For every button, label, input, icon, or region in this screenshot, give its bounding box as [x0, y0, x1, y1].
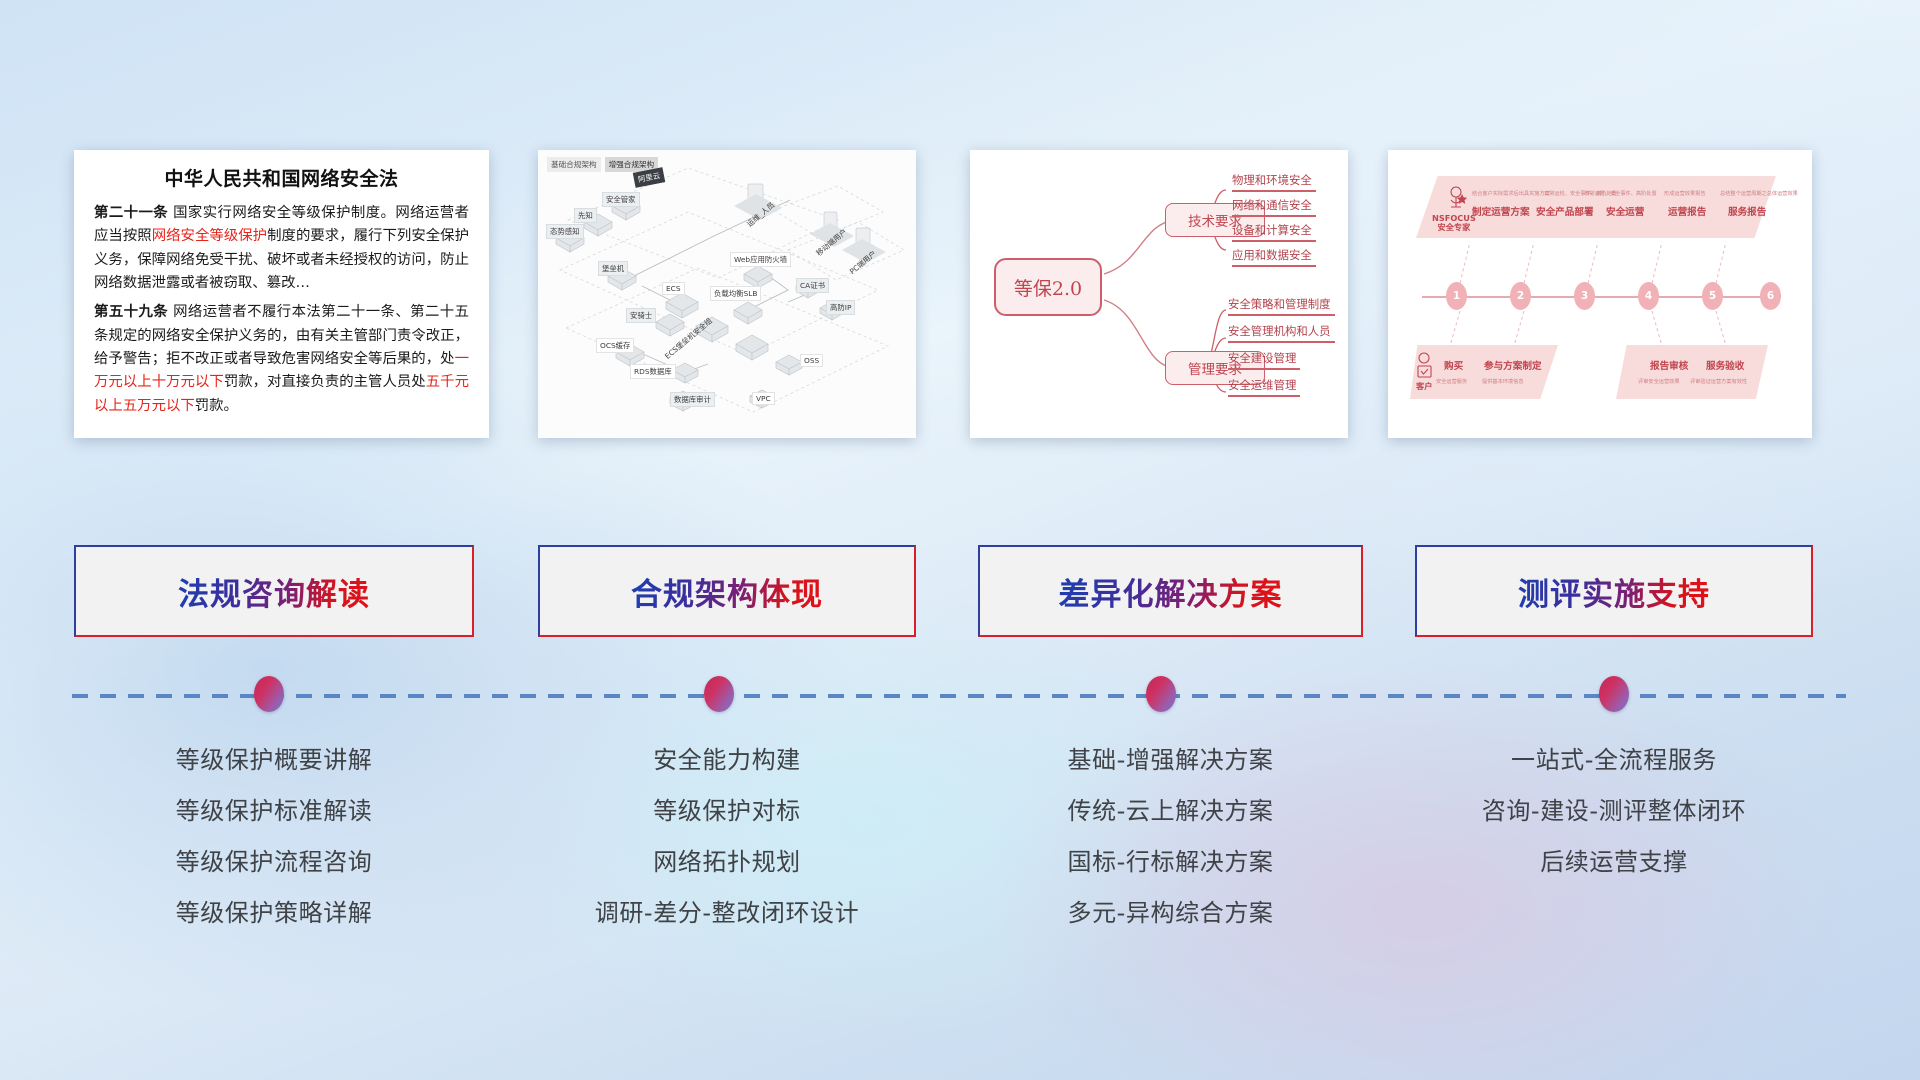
list-item: 传统-云上解决方案: [978, 786, 1363, 837]
process-step-sub: 日常运检、安全事件、高阶处置: [1584, 190, 1657, 197]
mindmap-leaf: 应用和数据安全: [1232, 247, 1312, 265]
process-step-title: 服务报告: [1728, 204, 1766, 218]
list-item: 调研-差分-整改闭环设计: [538, 888, 916, 939]
arch-label-rds-database: RDS数据库: [630, 364, 676, 379]
mindmap-leaf: 安全建设管理: [1228, 350, 1296, 368]
detail-column-4: 一站式-全流程服务 咨询-建设-测评整体闭环 后续运营支撑: [1415, 735, 1813, 888]
dengbao-mindmap: 等保2.0 技术要求 管理要求 物理和环境安全 网络和通信安全 设备和计算安全 …: [970, 150, 1348, 438]
process-bottom-title: 购买: [1444, 358, 1463, 372]
mindmap-leaf: 网络和通信安全: [1232, 197, 1312, 215]
detail-column-2: 安全能力构建 等级保护对标 网络拓扑规划 调研-差分-整改闭环设计: [538, 735, 916, 939]
law-title: 中华人民共和国网络安全法: [94, 164, 469, 191]
title-box-assessment-support[interactable]: 测评实施支持: [1415, 545, 1813, 637]
detail-list-row: 等级保护概要讲解 等级保护标准解读 等级保护流程咨询 等级保护策略详解 安全能力…: [0, 735, 1920, 985]
arch-label-bastion-host: 堡垒机: [598, 261, 628, 276]
process-step-sub: 形成运营效果报告: [1664, 190, 1706, 197]
process-bottom-title: 报告审核: [1650, 358, 1688, 372]
list-item: 后续运营支撑: [1415, 837, 1813, 888]
mindmap-leaf: 安全运维管理: [1228, 377, 1296, 395]
process-step-number: 3: [1574, 282, 1595, 310]
process-bottom-sub: 提供基本环境信息: [1482, 378, 1524, 385]
timeline-dot-1: [254, 676, 284, 712]
arch-label-ecs: ECS: [662, 282, 685, 295]
list-item: 等级保护策略详解: [74, 888, 474, 939]
timeline-dot-3: [1146, 676, 1176, 712]
list-item: 网络拓扑规划: [538, 837, 916, 888]
mindmap-leaf: 安全管理机构和人员: [1228, 323, 1331, 341]
card-row: 中华人民共和国网络安全法 第二十一条 国家实行网络安全等级保护制度。网络运营者应…: [0, 150, 1920, 445]
process-step-title: 运营报告: [1668, 204, 1706, 218]
list-item: 多元-异构综合方案: [978, 888, 1363, 939]
mindmap-card: 等保2.0 技术要求 管理要求 物理和环境安全 网络和通信安全 设备和计算安全 …: [970, 150, 1348, 438]
process-step-sub: 结合客户实际需求后出具实施方案: [1472, 190, 1550, 197]
arch-label-ca-cert: CA证书: [796, 278, 829, 293]
process-bottom-title: 服务验收: [1706, 358, 1744, 372]
title-box-regulation-consulting[interactable]: 法规咨询解读: [74, 545, 474, 637]
arch-label-oss: OSS: [800, 354, 823, 367]
list-item: 国标-行标解决方案: [978, 837, 1363, 888]
service-process-timeline: NSFOCUS 安全专家 客户 结合客户实际需求后出具实施方案 制定运营方案 日…: [1388, 150, 1812, 438]
mindmap-leaf: 安全策略和管理制度: [1228, 296, 1331, 314]
arch-label-slb: 负载均衡SLB: [710, 286, 761, 301]
process-step-title: 安全产品部署: [1536, 204, 1594, 218]
process-step-title: 制定运营方案: [1472, 204, 1530, 218]
mindmap-root: 等保2.0: [994, 258, 1102, 316]
law-seg-highlight: 网络安全等级保护: [152, 228, 267, 244]
arch-label-xianzhi: 先知: [574, 208, 597, 223]
process-bottom-sub: 评审安全运营效果: [1638, 378, 1680, 385]
architecture-card: 基础合规架构 增强合规架构: [538, 150, 916, 438]
process-step-title: 安全运营: [1606, 204, 1644, 218]
process-card: NSFOCUS 安全专家 客户 结合客户实际需求后出具实施方案 制定运营方案 日…: [1388, 150, 1812, 438]
process-bottom-title: 参与方案制定: [1484, 358, 1542, 372]
list-item: 安全能力构建: [538, 735, 916, 786]
list-item: 等级保护概要讲解: [74, 735, 474, 786]
arch-label-db-audit: 数据库审计: [670, 392, 715, 407]
law-paragraph-21: 第二十一条 国家实行网络安全等级保护制度。网络运营者应当按照网络安全等级保护制度…: [94, 202, 469, 295]
list-item: 等级保护标准解读: [74, 786, 474, 837]
arch-label-situational-awareness: 态势感知: [546, 224, 584, 239]
vendor-role: 安全专家: [1438, 222, 1471, 232]
cloud-architecture-diagram: 基础合规架构 增强合规架构: [538, 150, 916, 438]
arch-label-aegis: 安骑士: [626, 308, 656, 323]
process-step-number: 1: [1446, 282, 1467, 310]
process-step-number: 5: [1702, 282, 1723, 310]
title-label: 差异化解决方案: [1059, 569, 1283, 614]
mindmap-leaf: 物理和环境安全: [1232, 172, 1312, 190]
timeline-dot-4: [1599, 676, 1629, 712]
timeline-dashed-line: [72, 694, 1846, 698]
title-label: 测评实施支持: [1518, 569, 1710, 614]
arch-label-waf: Web应用防火墙: [730, 252, 791, 267]
title-box-differentiated-solutions[interactable]: 差异化解决方案: [978, 545, 1363, 637]
process-bottom-sub: 安全运营服务: [1436, 378, 1467, 385]
law-document: 中华人民共和国网络安全法 第二十一条 国家实行网络安全等级保护制度。网络运营者应…: [74, 150, 489, 434]
law-seg: 罚款，对直接负责的主管人员处: [224, 374, 426, 390]
list-item: 一站式-全流程服务: [1415, 735, 1813, 786]
mindmap-leaf: 设备和计算安全: [1232, 222, 1312, 240]
list-item: 等级保护流程咨询: [74, 837, 474, 888]
process-bottom-sub: 评审验证运营方案有效性: [1690, 378, 1747, 385]
law-card: 中华人民共和国网络安全法 第二十一条 国家实行网络安全等级保护制度。网络运营者应…: [74, 150, 489, 438]
law-paragraph-59: 第五十九条 网络运营者不履行本法第二十一条、第二十五条规定的网络安全保护义务的，…: [94, 301, 469, 418]
law-article-number-21: 第二十一条: [94, 205, 168, 221]
infographic-stage: 中华人民共和国网络安全法 第二十一条 国家实行网络安全等级保护制度。网络运营者应…: [0, 0, 1920, 1080]
process-step-sub: 总结整个运营周期之总体运营效果: [1720, 190, 1798, 197]
process-step-number: 2: [1510, 282, 1531, 310]
law-seg: 罚款。: [195, 398, 238, 414]
law-article-number-59: 第五十九条: [94, 304, 168, 320]
arch-label-vpc: VPC: [752, 392, 775, 405]
title-label: 合规架构体现: [631, 569, 823, 614]
arch-label-anti-ddos-ip: 高防IP: [826, 300, 855, 315]
title-box-compliance-architecture[interactable]: 合规架构体现: [538, 545, 916, 637]
list-item: 基础-增强解决方案: [978, 735, 1363, 786]
detail-column-3: 基础-增强解决方案 传统-云上解决方案 国标-行标解决方案 多元-异构综合方案: [978, 735, 1363, 939]
title-row: 法规咨询解读 合规架构体现 差异化解决方案 测评实施支持: [0, 545, 1920, 640]
arch-label-security-butler: 安全管家: [602, 192, 640, 207]
process-step-number: 4: [1638, 282, 1659, 310]
list-item: 等级保护对标: [538, 786, 916, 837]
process-vendor-badge: NSFOCUS 安全专家: [1432, 214, 1476, 233]
list-item: 咨询-建设-测评整体闭环: [1415, 786, 1813, 837]
title-label: 法规咨询解读: [178, 569, 370, 614]
timeline-dot-2: [704, 676, 734, 712]
detail-column-1: 等级保护概要讲解 等级保护标准解读 等级保护流程咨询 等级保护策略详解: [74, 735, 474, 939]
arch-label-ocs-cache: OCS缓存: [596, 338, 634, 353]
process-step-number: 6: [1760, 282, 1781, 310]
process-customer-label: 客户: [1416, 380, 1432, 392]
